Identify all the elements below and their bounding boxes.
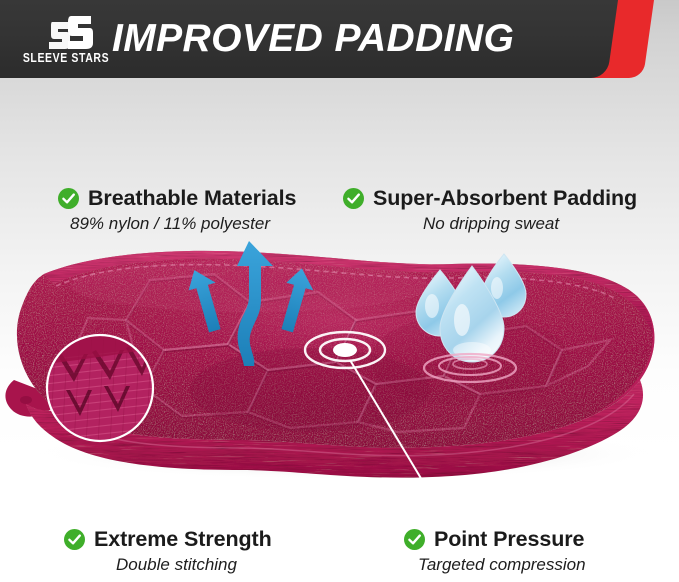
feature-subtitle: Double stitching (116, 555, 272, 575)
green-check-icon (64, 529, 85, 550)
feature-breathable-materials: Breathable Materials 89% nylon / 11% pol… (58, 186, 296, 234)
feature-super-absorbent-padding: Super-Absorbent Padding No dripping swea… (343, 186, 637, 234)
feature-extreme-strength: Extreme Strength Double stitching (64, 527, 272, 575)
brand-logo: SLEEVE STARS (24, 10, 108, 68)
feature-title: Point Pressure (434, 527, 584, 552)
feature-title: Breathable Materials (88, 186, 296, 211)
feature-title: Super-Absorbent Padding (373, 186, 637, 211)
green-check-icon (58, 188, 79, 209)
product-illustration (0, 240, 679, 510)
infographic-page: SLEEVE STARS IMPROVED PADDING (0, 0, 679, 582)
ss-monogram-icon (38, 15, 94, 51)
green-check-icon (343, 188, 364, 209)
header-banner: SLEEVE STARS IMPROVED PADDING (0, 0, 679, 80)
feature-subtitle: Targeted compression (418, 555, 586, 575)
feature-point-pressure: Point Pressure Targeted compression (404, 527, 586, 575)
feature-title: Extreme Strength (94, 527, 272, 552)
feature-subtitle: 89% nylon / 11% polyester (70, 214, 296, 234)
page-title: IMPROVED PADDING (112, 8, 582, 70)
brand-logo-text: SLEEVE STARS (23, 50, 109, 65)
feature-subtitle: No dripping sweat (423, 214, 637, 234)
green-check-icon (404, 529, 425, 550)
